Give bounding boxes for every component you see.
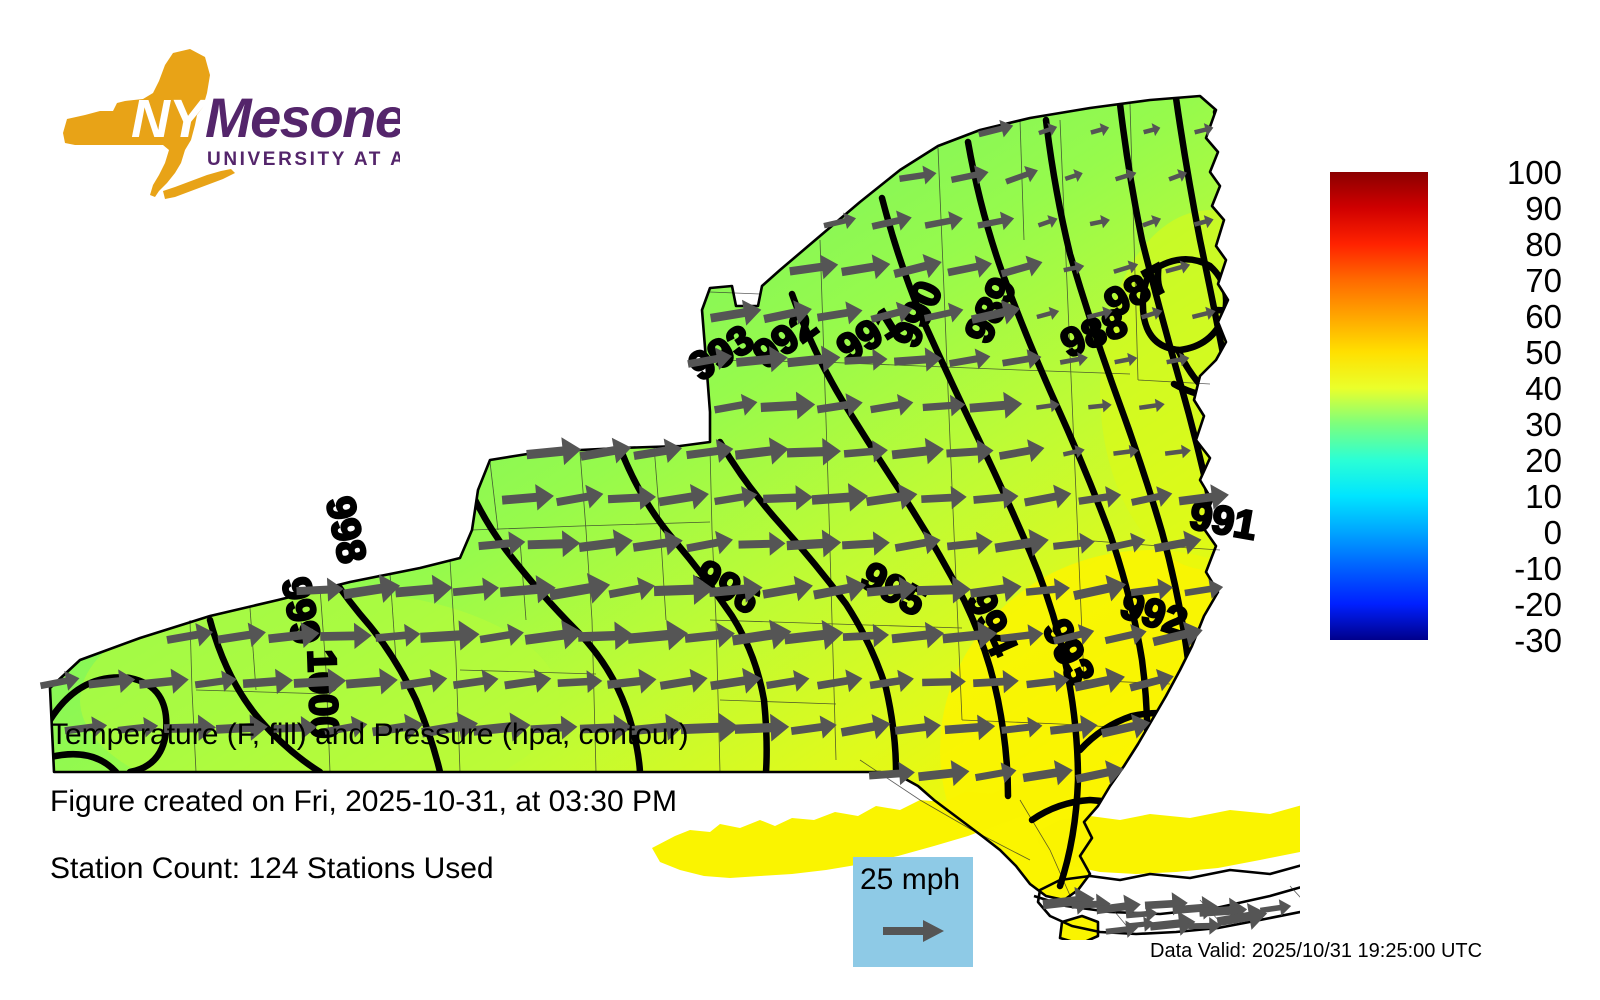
isobar-li2	[1216, 876, 1224, 898]
colorbar-tick-60: 60	[1452, 300, 1562, 333]
colorbar-tick-100: 100	[1452, 156, 1562, 189]
isobar-li1	[1096, 880, 1178, 894]
figure-root: NYS Mesonet UNIVERSITY AT ALBANY	[0, 0, 1600, 1000]
colorbar-tick--20: -20	[1452, 588, 1562, 621]
colorbar-tick-10: 10	[1452, 480, 1562, 513]
colorbar-tick-labels: 1009080706050403020100-10-20-30	[1442, 148, 1562, 668]
caption-created: Figure created on Fri, 2025-10-31, at 03…	[50, 785, 830, 819]
colorbar-tick-30: 30	[1452, 408, 1562, 441]
colorbar-tick-20: 20	[1452, 444, 1562, 477]
colorbar-gradient	[1330, 172, 1428, 640]
data-valid-timestamp: Data Valid: 2025/10/31 19:25:00 UTC	[1150, 940, 1482, 963]
colorbar-tick-90: 90	[1452, 192, 1562, 225]
colorbar-tick--10: -10	[1452, 552, 1562, 585]
colorbar-tick-50: 50	[1452, 336, 1562, 369]
colorbar-tick--30: -30	[1452, 624, 1562, 657]
isobar-east1	[1236, 306, 1280, 316]
isobar-label-998: 998	[317, 493, 374, 567]
wind-reference-arrow-icon	[883, 919, 945, 943]
wind-speed-legend: 25 mph	[853, 857, 973, 967]
colorbar-tick-80: 80	[1452, 228, 1562, 261]
wind-arrow	[1105, 919, 1139, 940]
figure-captions: Temperature (F, fill) and Pressure (hpa,…	[50, 718, 830, 919]
colorbar-tick-0: 0	[1452, 516, 1562, 549]
temperature-colorbar: 1009080706050403020100-10-20-30	[1330, 172, 1580, 652]
colorbar-tick-70: 70	[1452, 264, 1562, 297]
colorbar-tick-40: 40	[1452, 372, 1562, 405]
caption-stations: Station Count: 124 Stations Used	[50, 852, 830, 886]
wind-speed-legend-label: 25 mph	[860, 863, 970, 897]
caption-title: Temperature (F, fill) and Pressure (hpa,…	[50, 718, 830, 752]
wind-arrow	[1188, 917, 1221, 935]
